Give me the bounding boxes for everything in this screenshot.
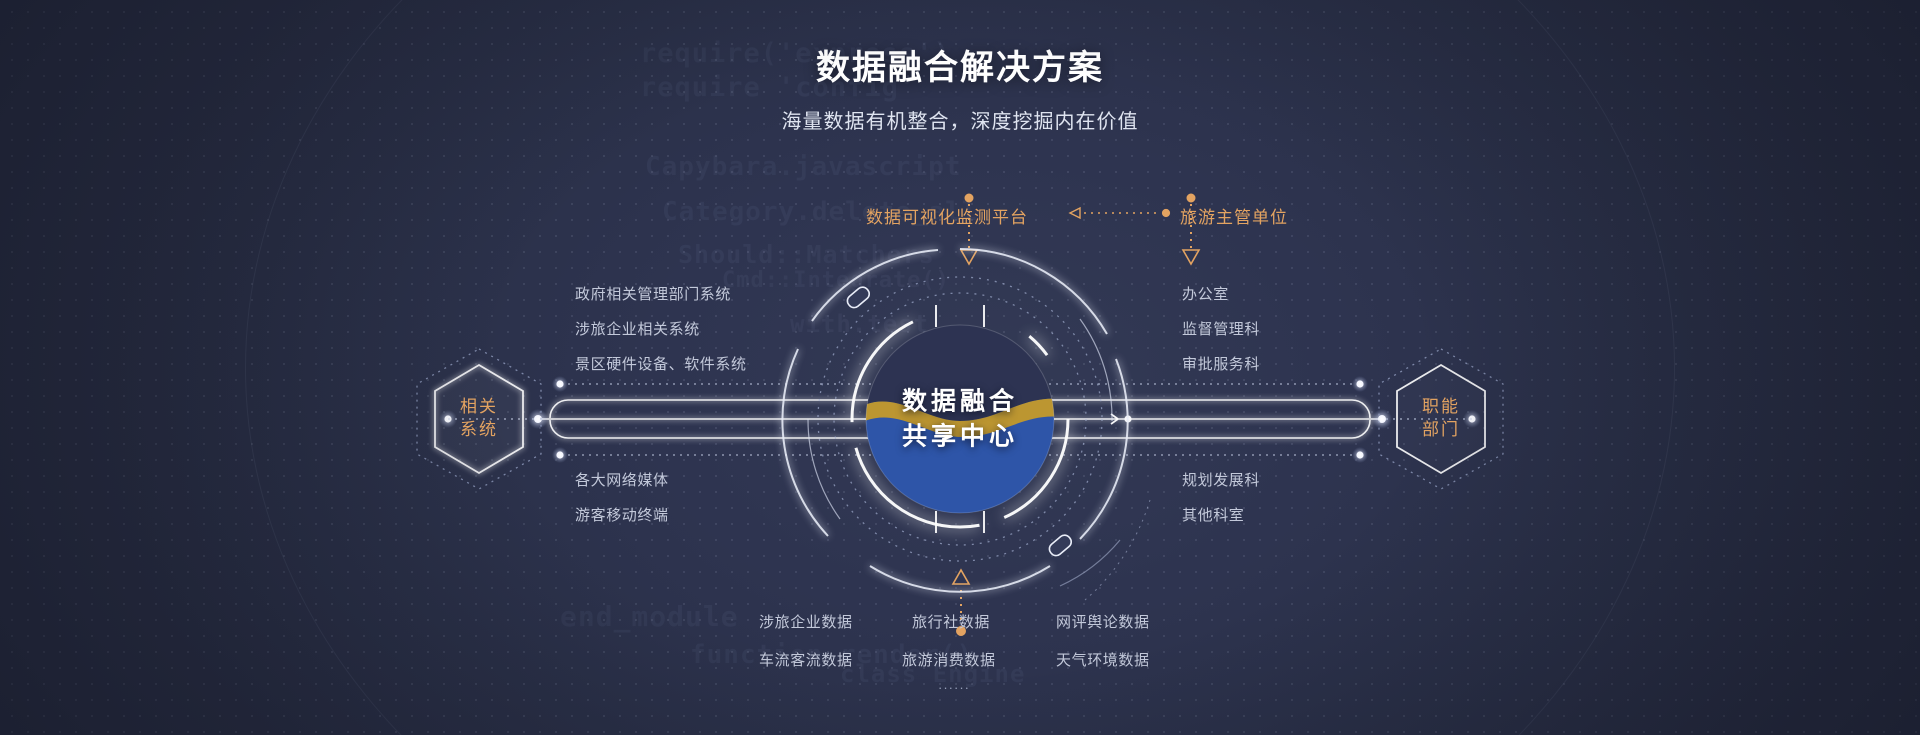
hex-functional-departments[interactable]: 职能 部门 <box>1375 345 1507 493</box>
hex-related-systems[interactable]: 相关 系统 <box>413 345 545 493</box>
hex-related-systems-caption: 相关 系统 <box>413 345 545 493</box>
hex-functional-departments-caption: 职能 部门 <box>1375 345 1507 493</box>
hex-right-line1: 职能 <box>1422 396 1460 419</box>
hex-left-line2: 系统 <box>460 419 498 442</box>
hex-left-line1: 相关 <box>460 396 498 419</box>
vignette-overlay <box>0 0 1920 735</box>
hex-right-line2: 部门 <box>1422 419 1460 442</box>
solution-diagram-canvas: Capybara.javascript Category.delete_all … <box>0 0 1920 735</box>
